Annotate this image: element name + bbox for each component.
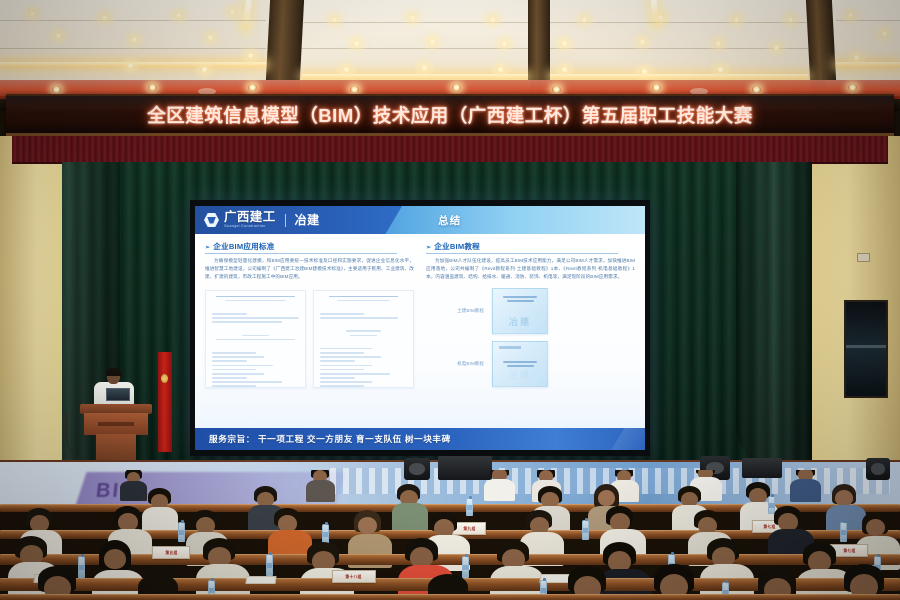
water-bottle [466, 498, 473, 516]
podium-laptop [106, 388, 130, 401]
ceiling-beam-center [528, 0, 550, 80]
water-bottle [78, 556, 85, 578]
table-placard: 第五组 [152, 546, 190, 559]
bullet-arrow-icon: ➢ [426, 244, 431, 251]
slide-column-left: ➢ 企业BIM应用标准 为确保模型轻量化建模，和BIM应用要统一技术标准及口径和… [205, 241, 414, 428]
water-bottle [462, 556, 469, 578]
table-placard: 第十八组 [332, 570, 376, 583]
book-label-1: 土建BIM教程 [426, 308, 484, 314]
logo-divider [285, 214, 286, 227]
column-left-heading: ➢ 企业BIM应用标准 [205, 241, 397, 254]
slide-footer: 服务宗旨： 干一项工程 交一方朋友 育一支队伍 树一块丰碑 [195, 428, 645, 450]
stage-valance [12, 136, 888, 164]
water-bottle [840, 522, 847, 542]
wall-left [0, 136, 62, 466]
curtain-fold-right [736, 162, 812, 466]
ceiling-beam-right [806, 0, 836, 80]
water-bottle [178, 522, 185, 542]
book-row-1: 土建BIM教程 冶建 [426, 288, 635, 334]
logo-chinese-name: 广西建工 [224, 211, 276, 224]
placard-text: 第五组 [165, 550, 177, 556]
placard-text: 第七组 [763, 524, 775, 530]
placard-text: 第七组 [843, 548, 855, 554]
audience-desk-row [0, 594, 900, 600]
table-placard: 第九组 [452, 522, 486, 535]
column-left-body: 为确保模型轻量化建模，和BIM应用要统一技术标准及口径和实施要求，促进企业信息化… [205, 257, 414, 281]
photo-scene: 全区建筑信息模型（BIM）技术应用（广西建工杯）第五届职工技能大赛 广西建工 G… [0, 0, 900, 600]
audience-desk-row [0, 554, 900, 565]
document-thumbnails [205, 290, 414, 388]
presentation-slide: 广西建工 Guangxi Construction 冶建 总结 ➢ 企业BIM应… [195, 206, 645, 450]
cove-light-center-left [302, 74, 528, 79]
event-banner-text: 全区建筑信息模型（BIM）技术应用（广西建工杯）第五届职工技能大赛 [147, 102, 752, 128]
slide-body: ➢ 企业BIM应用标准 为确保模型轻量化建模，和BIM应用要统一技术标准及口径和… [195, 234, 645, 428]
book-row-2: 机电BIM教程 冶建 [426, 341, 635, 387]
cove-light-right [836, 62, 900, 67]
column-right-body: 为加强BIM人才队伍化建设，提高员工BIM技术应用能力，满足公司BIM人才需求，… [426, 257, 635, 281]
event-banner: 全区建筑信息模型（BIM）技术应用（广西建工杯）第五届职工技能大赛 [6, 94, 894, 136]
slide-logo-block: 广西建工 Guangxi Construction 冶建 [195, 206, 402, 234]
podium-front-panel [84, 413, 148, 435]
book-watermark-1: 冶建 [493, 315, 547, 328]
ceiling-beam-left [266, 0, 304, 80]
cove-light-center-right [550, 74, 808, 79]
podium-area [60, 368, 180, 470]
document-page-2 [313, 290, 414, 388]
slide-footer-text: 服务宗旨： 干一项工程 交一方朋友 育一支队伍 树一块丰碑 [209, 433, 451, 445]
company-logo-icon [204, 213, 219, 228]
slide-header: 广西建工 Guangxi Construction 冶建 总结 [195, 206, 645, 234]
book-label-2: 机电BIM教程 [426, 361, 484, 367]
slide-column-right: ➢ 企业BIM教程 为加强BIM人才队伍化建设，提高员工BIM技术应用能力，满足… [426, 241, 635, 428]
column-right-heading: ➢ 企业BIM教程 [426, 241, 618, 254]
book-cover-2: 冶建 [492, 341, 548, 387]
column-right-heading-text: 企业BIM教程 [434, 241, 480, 252]
desk-paper [245, 576, 276, 584]
wall-switch [857, 253, 870, 262]
document-page-1 [205, 290, 306, 388]
placard-text: 第十八组 [346, 574, 362, 580]
slide-title: 总结 [438, 206, 461, 234]
placard-text: 第九组 [463, 526, 475, 532]
book-watermark-2: 冶建 [493, 368, 547, 381]
speaker-hair [106, 368, 121, 376]
book-thumbnails: 土建BIM教程 冶建 机电BIM教程 冶建 [426, 288, 635, 387]
book-cover-1: 冶建 [492, 288, 548, 334]
bullet-arrow-icon: ➢ [205, 244, 210, 251]
column-left-heading-text: 企业BIM应用标准 [213, 241, 274, 252]
logo-english-name: Guangxi Construction [224, 225, 276, 229]
water-bottle [322, 524, 329, 544]
water-bottle [266, 554, 273, 576]
projection-screen: 广西建工 Guangxi Construction 冶建 总结 ➢ 企业BIM应… [190, 200, 650, 456]
logo-subsidiary-name: 冶建 [295, 214, 320, 226]
control-booth-window [844, 300, 888, 398]
water-bottle [582, 520, 589, 540]
audience-area: 第九组 第七组 [0, 470, 900, 600]
